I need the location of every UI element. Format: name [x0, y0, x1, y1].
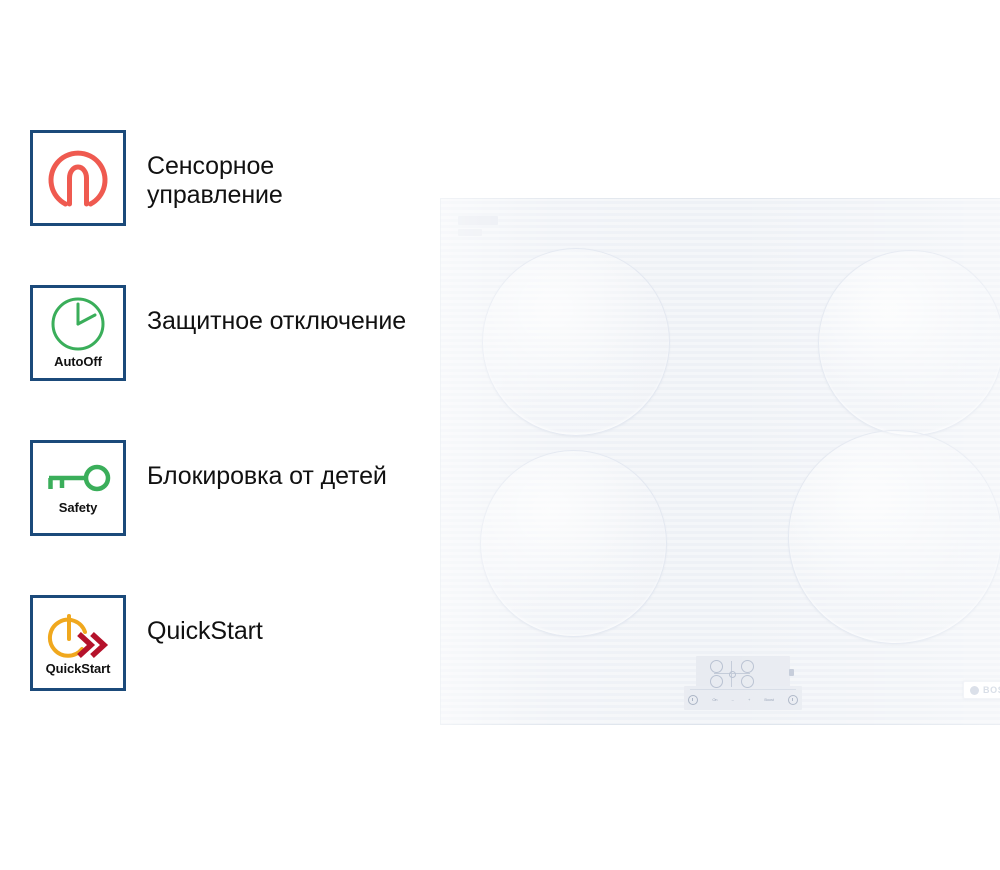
- feature-label-quickstart: QuickStart: [147, 595, 263, 646]
- hob-zone-front-right: [788, 430, 1000, 644]
- feature-badge-child-lock: Safety: [30, 440, 126, 536]
- feature-label-touch-control: Сенсорное управление: [147, 130, 407, 211]
- brand-badge-text: BOSCH: [983, 685, 1000, 695]
- zone-selector-grid: [710, 660, 754, 688]
- badge-caption: AutoOff: [54, 355, 102, 368]
- zone-grid-center-dot: [729, 671, 736, 678]
- zone-select-rear-left[interactable]: [710, 660, 723, 673]
- minus-key-label[interactable]: –: [732, 698, 734, 702]
- quickstart-power-icon: [46, 608, 110, 660]
- hob-model-plate: [458, 229, 482, 236]
- touch-control-icon: [47, 144, 109, 210]
- badge-caption: Safety: [59, 501, 97, 514]
- zone-select-front-right[interactable]: [741, 675, 754, 688]
- feature-badge-quickstart: QuickStart: [30, 595, 126, 691]
- zone-select-rear-right[interactable]: [741, 660, 754, 673]
- power-key-icon[interactable]: [688, 695, 698, 705]
- zone-select-front-left[interactable]: [710, 675, 723, 688]
- power-slider-track[interactable]: [690, 689, 796, 690]
- feature-list: Сенсорное управление AutoOff Защитное от…: [30, 130, 430, 750]
- feature-row-auto-off: AutoOff Защитное отключение: [30, 285, 430, 440]
- hob-zone-front-left: [482, 248, 670, 436]
- feature-label-child-lock: Блокировка от детей: [147, 440, 387, 491]
- brand-logo-mark: [970, 686, 979, 695]
- boost-key-label[interactable]: Boost: [764, 698, 773, 702]
- feature-row-touch-control: Сенсорное управление: [30, 130, 430, 285]
- control-key-row: On – + Boost: [688, 693, 798, 707]
- on-key-label[interactable]: On: [712, 698, 717, 702]
- hob-zone-rear-left: [480, 450, 667, 637]
- induction-cooktop-image: On – + Boost BOSCH: [440, 198, 1000, 725]
- brand-badge: BOSCH: [963, 681, 1000, 699]
- auto-off-clock-icon: [49, 295, 107, 353]
- feature-label-auto-off: Защитное отключение: [147, 285, 406, 336]
- feature-row-child-lock: Safety Блокировка от детей: [30, 440, 430, 595]
- timer-key-icon[interactable]: [788, 695, 798, 705]
- badge-caption: QuickStart: [46, 662, 111, 675]
- child-lock-indicator-icon: [789, 669, 794, 676]
- cooktop-control-panel: On – + Boost: [684, 656, 802, 710]
- safety-key-icon: [43, 461, 113, 499]
- hob-zone-rear-right: [818, 250, 1000, 436]
- feature-badge-touch-control: [30, 130, 126, 226]
- feature-row-quickstart: QuickStart QuickStart: [30, 595, 430, 750]
- feature-badge-auto-off: AutoOff: [30, 285, 126, 381]
- plus-key-label[interactable]: +: [748, 698, 750, 702]
- hob-brand-plate: [458, 216, 498, 225]
